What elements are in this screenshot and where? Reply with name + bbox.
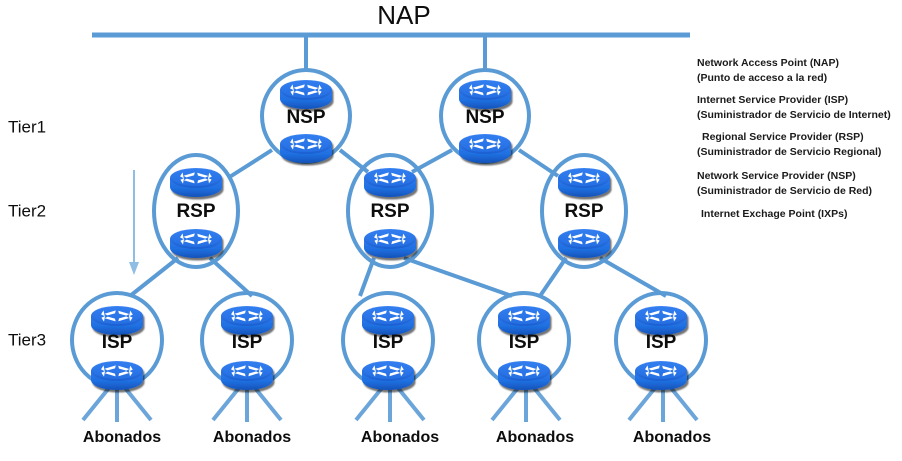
legend-item-isp-line-2: (Suministrador de Servicio de Internet) [697,109,891,121]
legend-item-isp-line-1: Internet Service Provider (ISP) [697,94,848,106]
legend-item-nap-line-1: Network Access Point (NAP) [697,57,839,69]
nsp-1-label: NSP [286,107,325,128]
router-icon [459,80,511,109]
router-icon [635,361,687,390]
subscriber-label-3: Abonados [361,429,439,446]
legend-item-rsp-line-2: (Suministrador de Servicio Regional) [697,146,881,158]
node-isp-3[interactable]: ISP [343,293,433,390]
isp-2-label: ISP [232,332,263,353]
link-rsp2-isp4 [404,258,512,296]
isp-4-label: ISP [509,332,540,353]
rsp-3-label: RSP [564,201,603,222]
subscriber-label-4: Abonados [496,429,574,446]
router-icon [364,168,416,197]
tier-label-tier1: Tier1 [8,117,46,136]
router-icon [91,306,143,335]
isp-1-label: ISP [102,332,133,353]
router-icon [221,361,273,390]
subscriber-label-5: Abonados [633,429,711,446]
link-nsp1-rsp1 [228,150,272,178]
isp-3-label: ISP [373,332,404,353]
router-icon [91,361,143,390]
page-title: NAP [377,0,430,30]
down-arrow-icon [129,170,139,275]
node-isp-5[interactable]: ISP [616,293,706,390]
isp-5-label: ISP [646,332,677,353]
router-icon [170,229,222,258]
router-icon [170,168,222,197]
node-nsp-1[interactable]: NSP [262,70,350,163]
tier-label-tier2: Tier2 [8,201,46,220]
router-icon [221,306,273,335]
router-icon [635,306,687,335]
subscriber-label-1: Abonados [83,429,161,446]
legend-item-nsp-line-2: (Suministrador de Servicio de Red) [697,185,872,197]
node-rsp-1[interactable]: RSP [154,155,238,267]
node-isp-1[interactable]: ISP [72,293,162,390]
router-icon [280,80,332,109]
rsp-1-label: RSP [176,201,215,222]
legend-item-nsp-line-1: Network Service Provider (NSP) [697,170,856,182]
node-rsp-3[interactable]: RSP [542,155,626,267]
nsp-2-label: NSP [465,107,504,128]
router-icon [498,306,550,335]
router-icon [364,229,416,258]
tier-label-tier3: Tier3 [8,330,46,349]
node-nsp-2[interactable]: NSP [441,70,529,163]
router-icon [558,168,610,197]
legend-item-ixp-line-1: Internet Exchage Point (IXPs) [701,208,847,220]
router-icon [362,361,414,390]
link-rsp3-isp4 [540,258,566,296]
subscriber-label-2: Abonados [213,429,291,446]
legend: Network Access Point (NAP) (Punto de acc… [697,57,891,220]
router-icon [498,361,550,390]
router-icon [459,134,511,163]
router-icon [558,229,610,258]
router-icon [280,134,332,163]
legend-item-nap-line-2: (Punto de acceso a la red) [697,72,827,84]
node-rsp-2[interactable]: RSP [348,155,432,267]
rsp-2-label: RSP [370,201,409,222]
router-icon [362,306,414,335]
node-isp-4[interactable]: ISP [479,293,569,390]
network-hierarchy-diagram: NAP Tier1 Tier2 Tier3 NSP [0,0,902,461]
link-rsp3-isp5 [600,258,666,296]
legend-item-rsp-line-1: Regional Service Provider (RSP) [702,131,864,143]
link-rsp1-isp2 [210,258,252,296]
node-isp-2[interactable]: ISP [202,293,292,390]
